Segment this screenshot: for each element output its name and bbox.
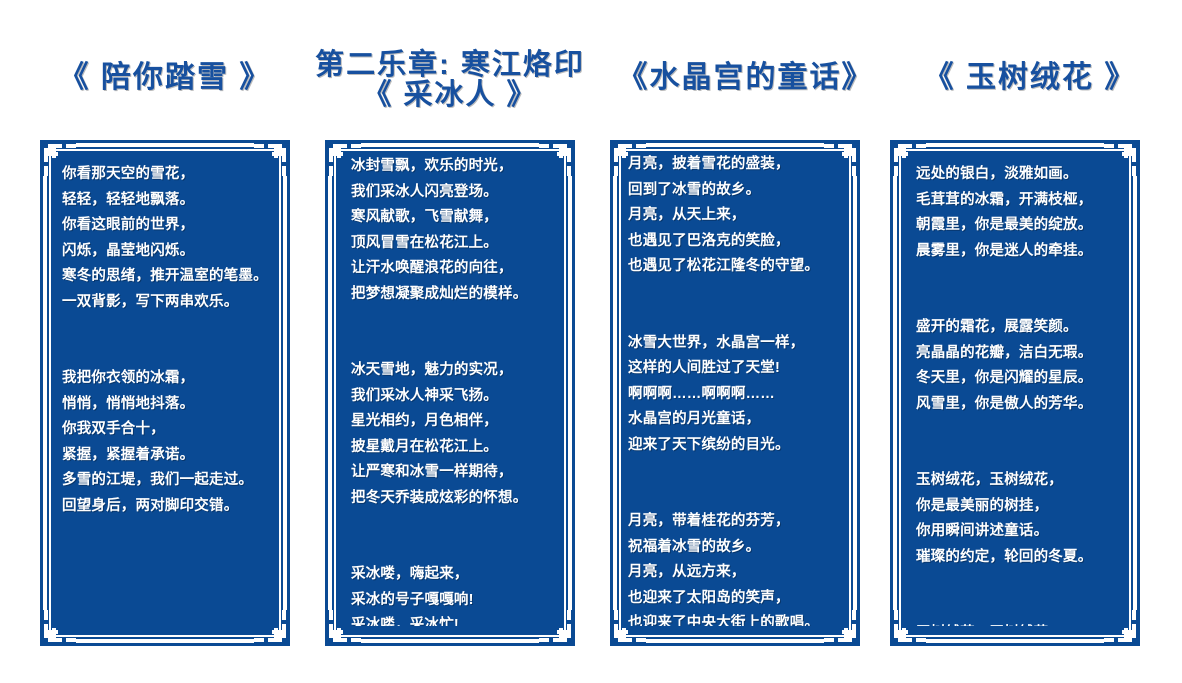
lyric-line: 我把你衣领的冰霜， [62, 366, 276, 392]
lyric-spacer [628, 458, 846, 484]
lyric-line: 冰雪大世界，水晶宫一样， [628, 331, 846, 357]
frame-meander-left [613, 176, 625, 610]
lyric-line: 这样的人间胜过了天堂! [628, 356, 846, 382]
lyric-line: 毛茸茸的冰霜，开满枝桠， [916, 188, 1126, 214]
lyric-line: 一双背影，写下两串欢乐。 [62, 290, 276, 316]
lyric-line: 回到了冰雪的故乡。 [628, 178, 846, 204]
lyrics-panel-4: 远处的银白，淡雅如画。毛茸茸的冰霜，开满枝桠，朝霞里，你是最美的绽放。晨雾里，你… [890, 140, 1140, 646]
title-line: 《 采冰人 》 [300, 80, 600, 110]
lyric-line: 悄悄，悄悄地抖落。 [62, 392, 276, 418]
lyric-spacer [628, 484, 846, 510]
lyric-line: 冰天雪地，魅力的实况， [351, 358, 561, 384]
lyric-line: 顶风冒雪在松花江上。 [351, 231, 561, 257]
lyric-line: 玉树绒花，玉树绒花， [916, 468, 1126, 494]
lyrics-panel-2: 冰封雪飘，欢乐的时光，我们采冰人闪亮登场。寒风献歌，飞雪献舞，顶风冒雪在松花江上… [325, 140, 575, 646]
song-title-3: 《水晶宫的童话》 [598, 62, 893, 94]
lyric-line: 紧握，紧握着承诺。 [62, 443, 276, 469]
frame-meander-right [1125, 176, 1137, 610]
lyric-line: 祝福着冰雪的故乡。 [628, 535, 846, 561]
frame-meander-left [893, 176, 905, 610]
lyric-line: 月亮，带着桂花的芬芳， [628, 509, 846, 535]
frame-meander-bottom [646, 631, 824, 643]
lyric-line: 月亮，从天上来， [628, 203, 846, 229]
lyric-line: 闪烁，晶莹地闪烁。 [62, 239, 276, 265]
lyric-line: 让汗水唤醒浪花的向往， [351, 256, 561, 282]
lyric-spacer [351, 537, 561, 563]
lyric-line: 也遇见了松花江隆冬的守望。 [628, 254, 846, 280]
lyric-line: 月亮，披着雪花的盛装， [628, 152, 846, 178]
lyrics-text: 远处的银白，淡雅如画。毛茸茸的冰霜，开满枝桠，朝霞里，你是最美的绽放。晨雾里，你… [916, 162, 1126, 626]
frame-meander-left [328, 176, 340, 610]
lyric-line: 采冰喽，采冰忙! [351, 613, 561, 626]
lyric-line: 你看这眼前的世界， [62, 213, 276, 239]
lyric-line: 冰封雪飘，欢乐的时光， [351, 154, 561, 180]
song-title-1: 《 陪你踏雪 》 [20, 62, 310, 94]
song-title-4: 《 玉树绒花 》 [885, 62, 1175, 94]
lyric-line: 多雪的江堤，我们一起走过。 [62, 468, 276, 494]
lyric-spacer [62, 315, 276, 341]
lyric-line: 我们采冰人闪亮登场。 [351, 180, 561, 206]
frame-meander-top [76, 143, 254, 155]
frame-meander-right [560, 176, 572, 610]
frame-meander-bottom [76, 631, 254, 643]
lyric-line: 也迎来了太阳岛的笑声， [628, 586, 846, 612]
lyrics-text: 月亮，披着雪花的盛装，回到了冰雪的故乡。月亮，从天上来，也遇见了巴洛克的笑脸，也… [628, 152, 846, 626]
lyric-line: 回望身后，两对脚印交错。 [62, 494, 276, 520]
lyrics-text: 你看那天空的雪花，轻轻，轻轻地飘落。你看这眼前的世界，闪烁，晶莹地闪烁。寒冬的思… [62, 162, 276, 626]
lyric-line: 璀璨的约定，轮回的冬夏。 [916, 545, 1126, 571]
lyric-line: 轻轻，轻轻地飘落。 [62, 188, 276, 214]
lyric-line: 晨雾里，你是迷人的牵挂。 [916, 239, 1126, 265]
lyrics-text: 冰封雪飘，欢乐的时光，我们采冰人闪亮登场。寒风献歌，飞雪献舞，顶风冒雪在松花江上… [351, 154, 561, 626]
lyric-line: 也迎来了中央大街上的歌唱。 [628, 611, 846, 626]
title-line: 《 陪你踏雪 》 [20, 62, 310, 94]
lyrics-panel-1: 你看那天空的雪花，轻轻，轻轻地飘落。你看这眼前的世界，闪烁，晶莹地闪烁。寒冬的思… [40, 140, 290, 646]
lyric-line: 星光相约，月色相伴， [351, 409, 561, 435]
lyric-line: 玉树绒花，玉树绒花， [916, 621, 1126, 626]
lyric-spacer [916, 596, 1126, 622]
frame-meander-top [926, 143, 1104, 155]
lyric-spacer [628, 280, 846, 306]
lyric-line: 你看那天空的雪花， [62, 162, 276, 188]
lyrics-panel-3: 月亮，披着雪花的盛装，回到了冰雪的故乡。月亮，从天上来，也遇见了巴洛克的笑脸，也… [610, 140, 860, 646]
lyric-line: 也遇见了巴洛克的笑脸， [628, 229, 846, 255]
lyric-line: 寒风献歌，飞雪献舞， [351, 205, 561, 231]
lyric-line: 让严寒和冰雪一样期待， [351, 460, 561, 486]
frame-meander-bottom [361, 631, 539, 643]
title-line: 《水晶宫的童话》 [598, 62, 893, 94]
frame-meander-bottom [926, 631, 1104, 643]
title-line: 第二乐章: 寒江烙印 [300, 50, 600, 80]
lyric-line: 寒冬的思绪，推开温室的笔墨。 [62, 264, 276, 290]
lyric-spacer [916, 443, 1126, 469]
lyric-spacer [916, 417, 1126, 443]
lyric-line: 冬天里，你是闪耀的星辰。 [916, 366, 1126, 392]
lyric-line: 月亮，从远方来， [628, 560, 846, 586]
lyric-line: 朝霞里，你是最美的绽放。 [916, 213, 1126, 239]
lyric-line: 你我双手合十， [62, 417, 276, 443]
frame-meander-left [43, 176, 55, 610]
lyric-line: 把冬天乔装成炫彩的怀想。 [351, 486, 561, 512]
lyric-spacer [916, 290, 1126, 316]
lyric-spacer [916, 264, 1126, 290]
lyric-spacer [351, 511, 561, 537]
lyric-line: 水晶宫的月光童话， [628, 407, 846, 433]
lyric-spacer [351, 307, 561, 333]
lyric-line: 远处的银白，淡雅如画。 [916, 162, 1126, 188]
lyric-line: 啊啊啊……啊啊啊…… [628, 382, 846, 408]
lyric-spacer [351, 333, 561, 359]
lyric-line: 披星戴月在松花江上。 [351, 435, 561, 461]
lyric-line: 你是最美丽的树挂， [916, 494, 1126, 520]
lyric-spacer [62, 341, 276, 367]
frame-meander-right [845, 176, 857, 610]
lyric-line: 你用瞬间讲述童话。 [916, 519, 1126, 545]
lyric-line: 把梦想凝聚成灿烂的模样。 [351, 282, 561, 308]
lyric-line: 采冰喽，嗨起来， [351, 562, 561, 588]
title-line: 《 玉树绒花 》 [885, 62, 1175, 94]
titles-row: 《 陪你踏雪 》 第二乐章: 寒江烙印《 采冰人 》 《水晶宫的童话》 《 玉树… [0, 0, 1182, 122]
lyric-line: 我们采冰人神采飞扬。 [351, 384, 561, 410]
lyric-line: 亮晶晶的花瓣，洁白无瑕。 [916, 341, 1126, 367]
song-title-2: 第二乐章: 寒江烙印《 采冰人 》 [300, 50, 600, 111]
lyric-spacer [628, 305, 846, 331]
frame-meander-right [275, 176, 287, 610]
lyric-line: 风雪里，你是傲人的芳华。 [916, 392, 1126, 418]
lyric-spacer [916, 570, 1126, 596]
lyric-line: 盛开的霜花，展露笑颜。 [916, 315, 1126, 341]
lyric-line: 迎来了天下缤纷的目光。 [628, 433, 846, 459]
lyric-line: 采冰的号子嘎嘎响! [351, 588, 561, 614]
